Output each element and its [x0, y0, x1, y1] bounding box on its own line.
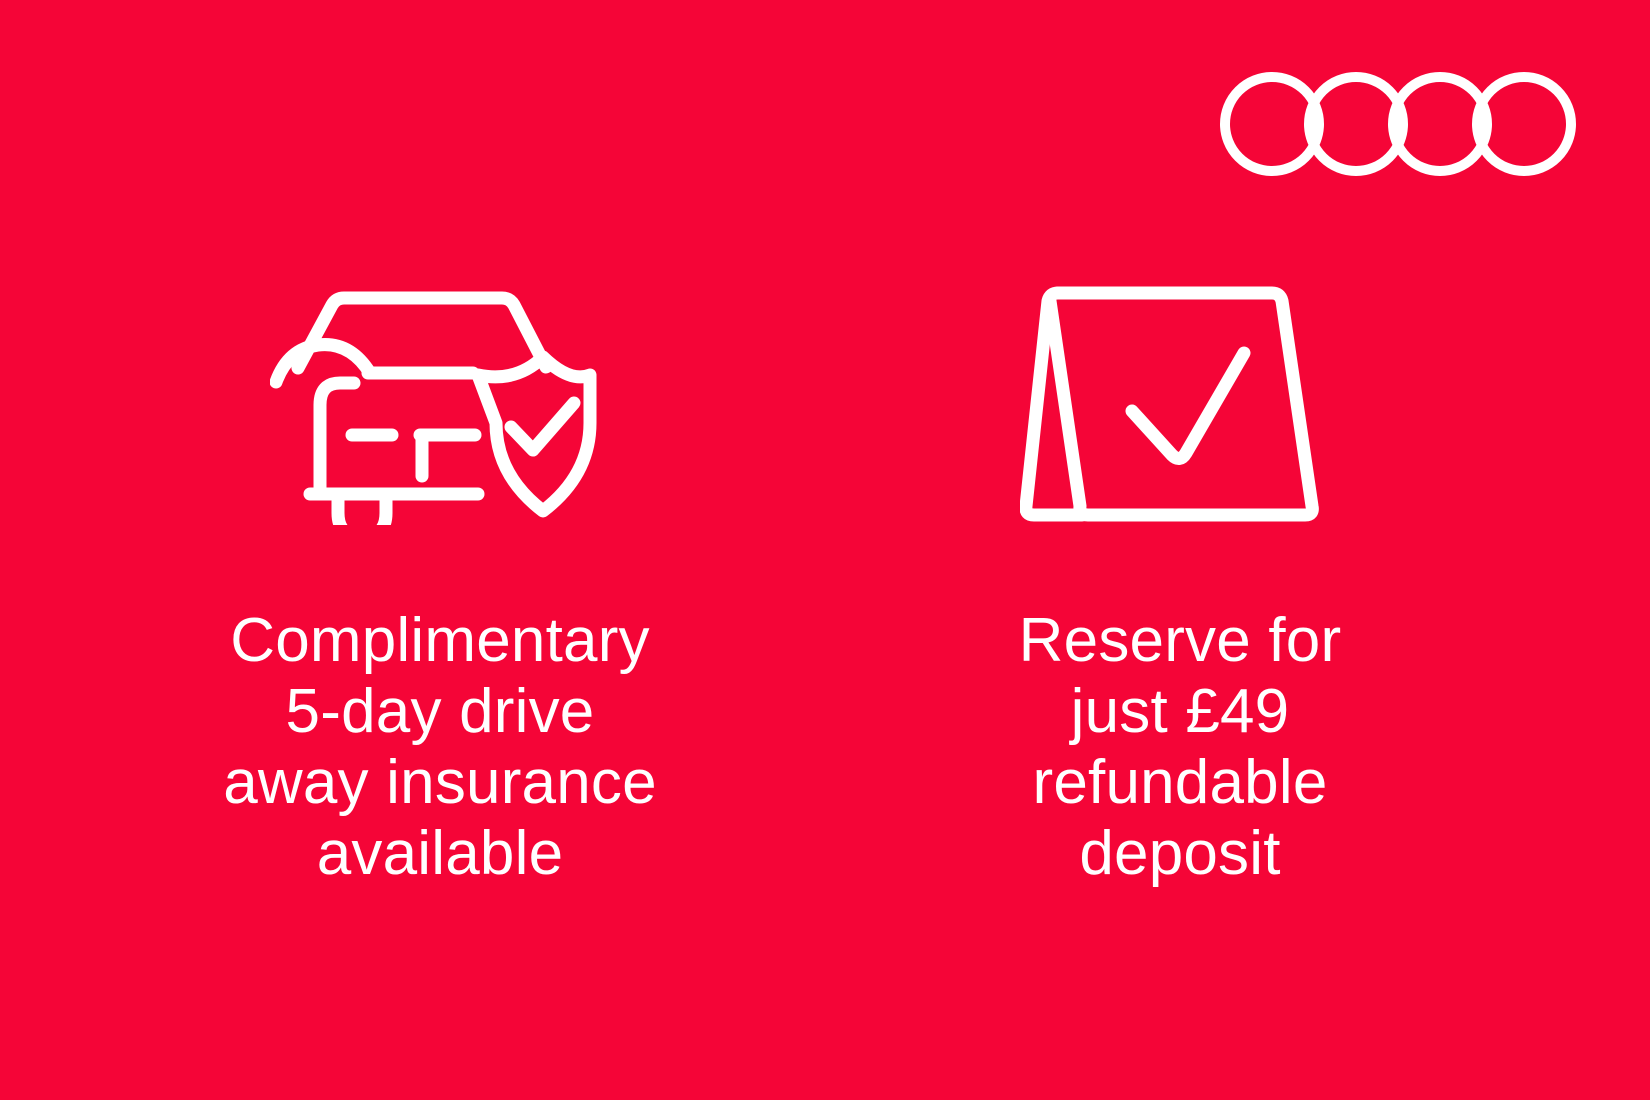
tent-card-check-icon [1020, 270, 1340, 530]
car-shield-icon [270, 270, 610, 530]
feature-insurance-caption: Complimentary 5-day drive away insurance… [223, 605, 657, 889]
feature-deposit-caption: Reserve for just £49 refundable deposit [1019, 605, 1342, 889]
promo-banner: Complimentary 5-day drive away insurance… [0, 0, 1650, 1100]
audi-rings-logo [1218, 70, 1578, 178]
feature-deposit: Reserve for just £49 refundable deposit [870, 270, 1490, 889]
feature-insurance: Complimentary 5-day drive away insurance… [130, 270, 750, 889]
